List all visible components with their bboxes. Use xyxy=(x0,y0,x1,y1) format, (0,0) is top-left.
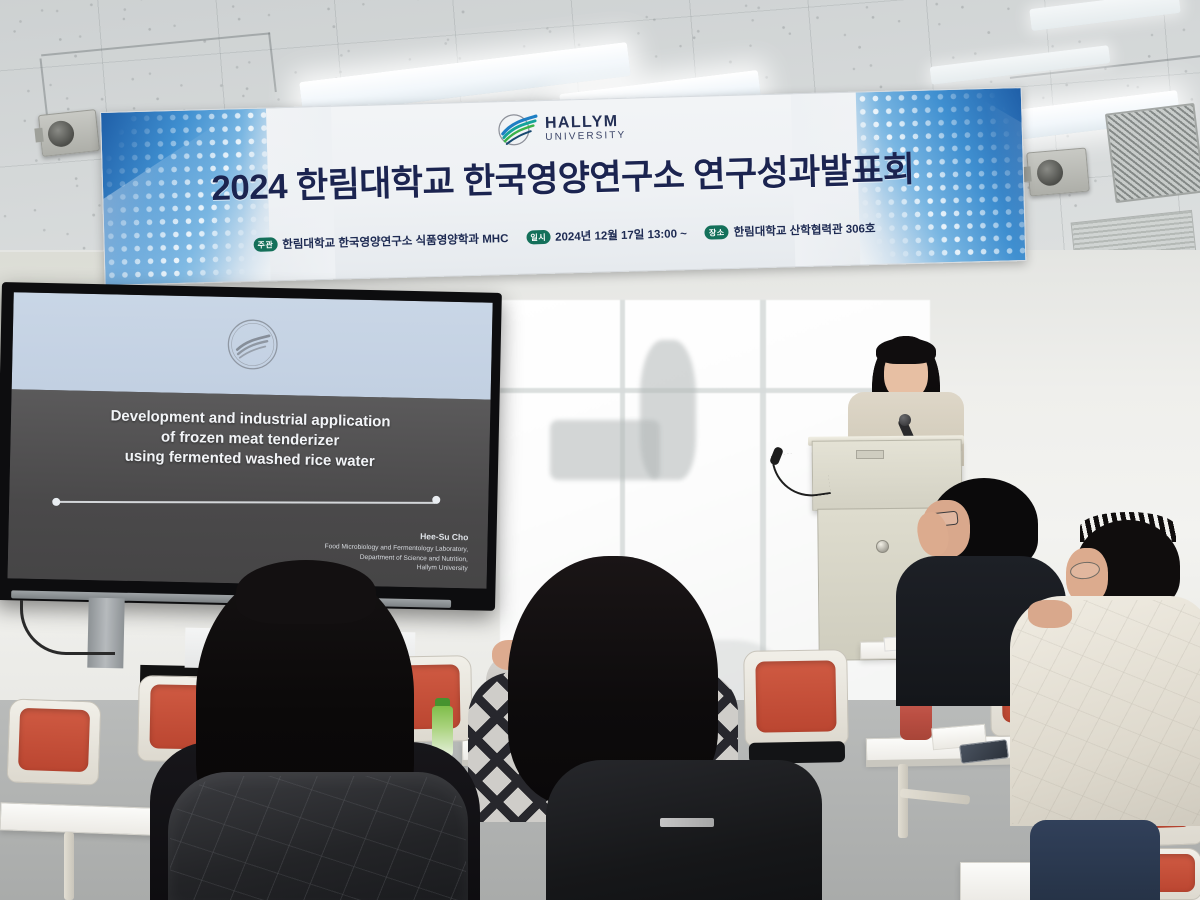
banner-subinfo-datetime: 일시 2024년 12월 17일 13:00 ~ xyxy=(526,225,687,245)
microphone-head-icon xyxy=(899,414,911,426)
hallym-swoosh-emblem-icon xyxy=(497,110,539,149)
chair-center-right xyxy=(743,649,849,747)
slide-title: Development and industrial application o… xyxy=(10,404,490,475)
wall-display: Development and industrial application o… xyxy=(0,282,502,611)
hallym-university-seal-icon xyxy=(225,317,280,372)
banner-datetime-text: 2024년 12월 17일 13:00 ~ xyxy=(555,225,687,245)
slide-presenter-name: Hee-Su Cho xyxy=(325,529,469,542)
desk-leg-left xyxy=(64,832,74,900)
man-cream-jacket-jeans xyxy=(1030,820,1160,900)
podium-lock-knob xyxy=(876,540,889,553)
banner-wordmark-line2: UNIVERSITY xyxy=(545,130,626,142)
foreground-puffer-jacket xyxy=(546,760,822,900)
chair-left-far xyxy=(7,698,102,785)
presenter-fringe xyxy=(876,338,936,364)
seminar-photo-scene: HALLYM UNIVERSITY 2024 한림대학교 한국영양연구소 연구성… xyxy=(0,0,1200,900)
badge-venue: 장소 xyxy=(705,225,729,240)
jacket-brand-tag xyxy=(660,818,714,827)
woman-black-coat-fringe xyxy=(236,560,376,624)
podium-nameplate xyxy=(856,450,884,459)
man-cream-jacket-hands xyxy=(1028,600,1072,628)
banner-wordmark-line1: HALLYM xyxy=(545,113,626,131)
banner-logo: HALLYM UNIVERSITY xyxy=(497,108,627,149)
wall-speaker-left xyxy=(38,109,100,157)
man-cream-jacket-quilting xyxy=(1012,600,1200,824)
presentation-slide: Development and industrial application o… xyxy=(8,292,493,588)
badge-host: 주관 xyxy=(253,237,277,252)
wall-speaker-right xyxy=(1026,147,1090,196)
woman-black-coat-quilting xyxy=(170,776,466,900)
man-cream-jacket-hair-texture xyxy=(1080,512,1176,542)
desk-leg xyxy=(898,764,908,838)
event-banner: HALLYM UNIVERSITY 2024 한림대학교 한국영양연구소 연구성… xyxy=(100,87,1026,286)
ceiling-vent-icon xyxy=(1105,103,1200,203)
badge-datetime: 일시 xyxy=(526,230,550,245)
